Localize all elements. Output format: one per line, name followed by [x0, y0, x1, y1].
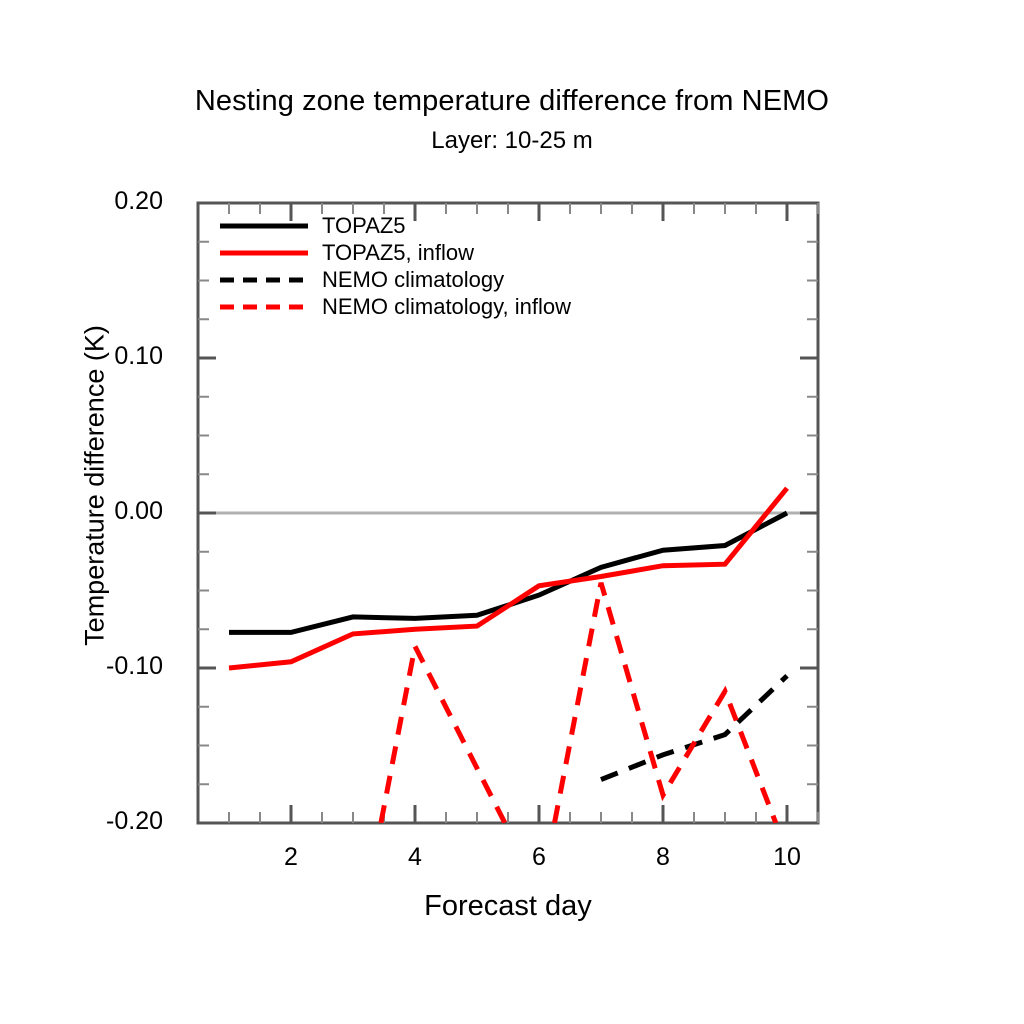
- legend-item: NEMO climatology: [218, 266, 571, 293]
- legend-label: NEMO climatology: [322, 269, 504, 291]
- series-line-0: [229, 513, 787, 632]
- series-line-3: [381, 646, 505, 823]
- legend-label: TOPAZ5, inflow: [322, 242, 474, 264]
- legend-swatch-icon: [218, 298, 310, 316]
- series-line-1: [229, 488, 787, 668]
- legend-item: NEMO climatology, inflow: [218, 293, 571, 320]
- legend-label: TOPAZ5: [322, 215, 406, 237]
- legend-swatch-icon: [218, 271, 310, 289]
- series-line-3: [555, 583, 776, 823]
- legend-label: NEMO climatology, inflow: [322, 296, 571, 318]
- legend-swatch-icon: [218, 244, 310, 262]
- chart-figure: Nesting zone temperature difference from…: [0, 0, 1024, 1024]
- legend-item: TOPAZ5, inflow: [218, 239, 571, 266]
- chart-legend: TOPAZ5TOPAZ5, inflowNEMO climatologyNEMO…: [218, 212, 571, 320]
- series-line-2: [601, 676, 787, 780]
- plot-canvas: [0, 0, 1024, 1024]
- legend-item: TOPAZ5: [218, 212, 571, 239]
- legend-swatch-icon: [218, 217, 310, 235]
